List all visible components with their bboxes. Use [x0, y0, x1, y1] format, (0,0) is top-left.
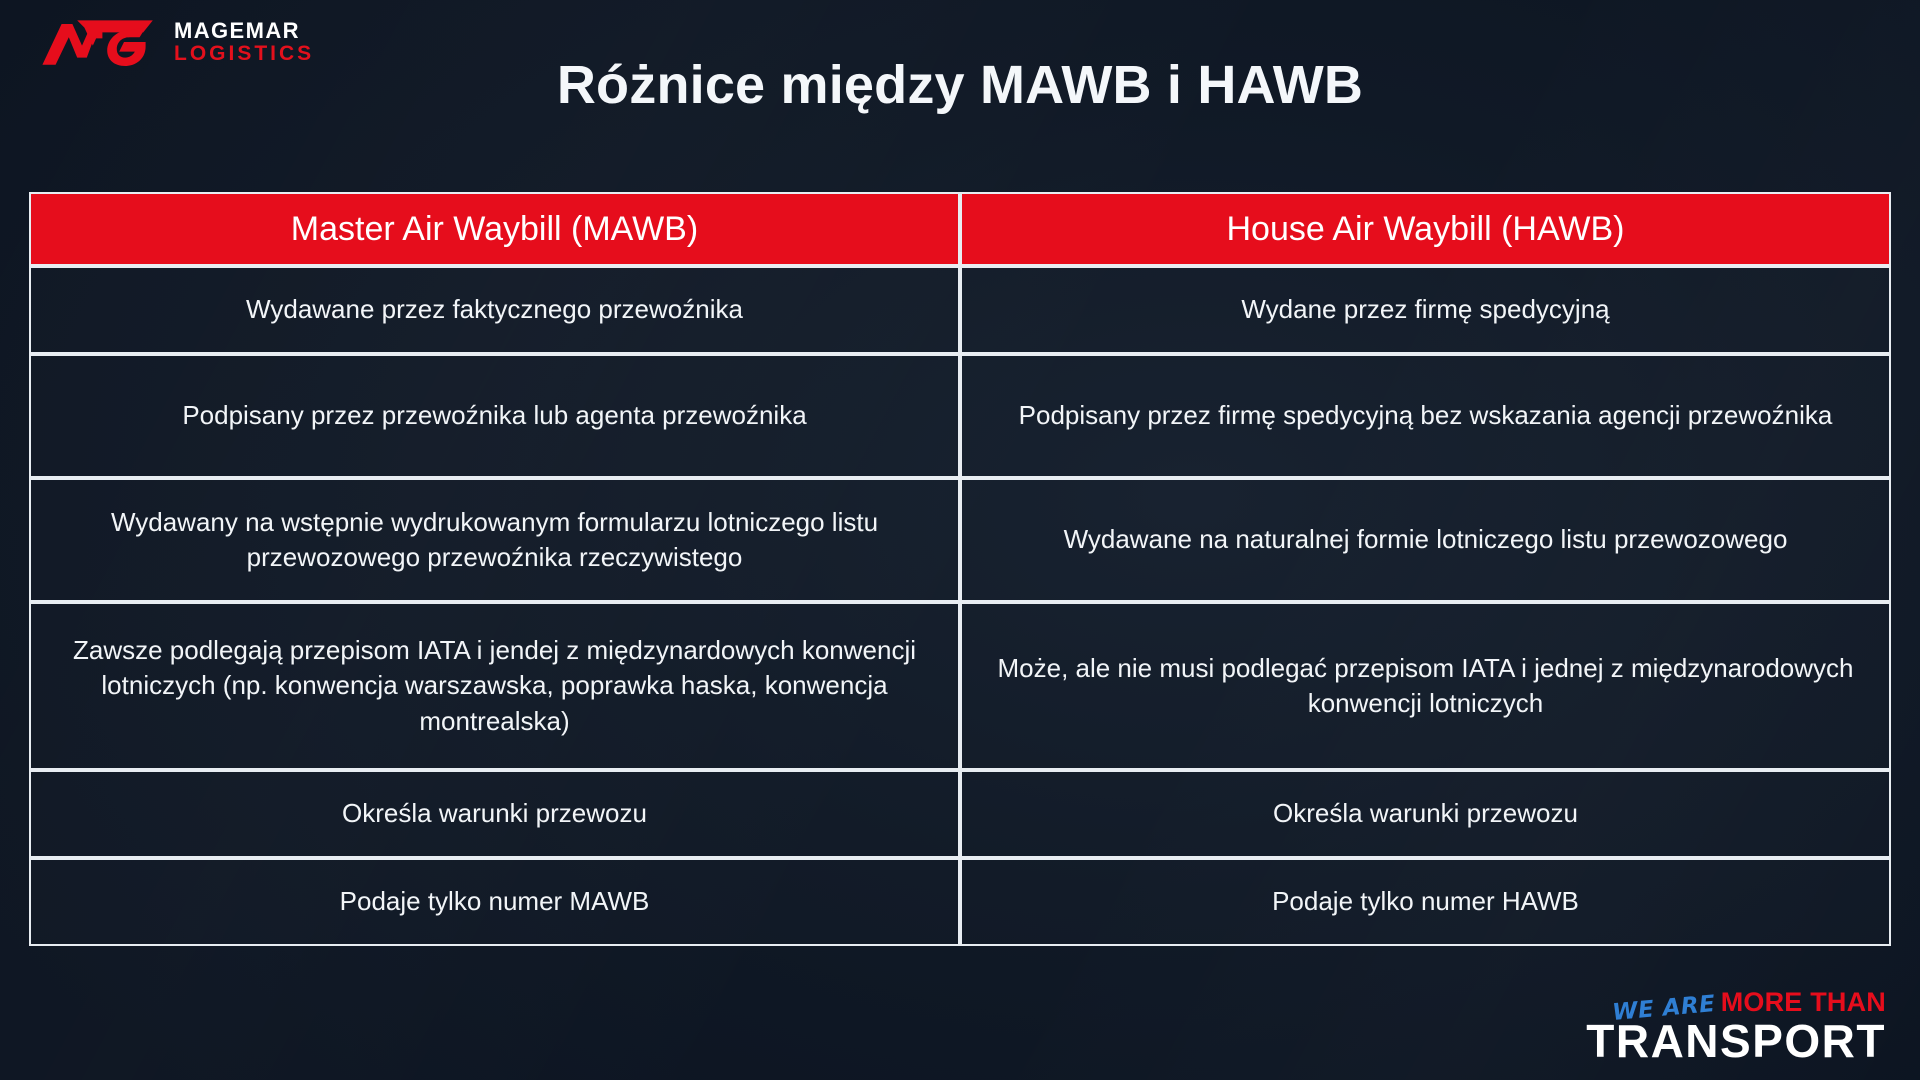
cell-hawb: Podaje tylko numer HAWB — [960, 858, 1891, 946]
cell-hawb: Wydane przez firmę spedycyjną — [960, 266, 1891, 354]
table-head: Master Air Waybill (MAWB) House Air Wayb… — [29, 192, 1891, 266]
cell-hawb: Może, ale nie musi podlegać przepisom IA… — [960, 602, 1891, 770]
cell-hawb: Podpisany przez firmę spedycyjną bez wsk… — [960, 354, 1891, 478]
tagline-top-line: WE ARE MORE THAN — [1586, 989, 1886, 1016]
cell-mawb: Wydawany na wstępnie wydrukowanym formul… — [29, 478, 960, 602]
cell-hawb: Wydawane na naturalnej formie lotniczego… — [960, 478, 1891, 602]
table-body: Wydawane przez faktycznego przewoźnika W… — [29, 266, 1891, 946]
table-row: Wydawane przez faktycznego przewoźnika W… — [29, 266, 1891, 354]
table-row: Wydawany na wstępnie wydrukowanym formul… — [29, 478, 1891, 602]
table-row: Podpisany przez przewoźnika lub agenta p… — [29, 354, 1891, 478]
table-header-row: Master Air Waybill (MAWB) House Air Wayb… — [29, 192, 1891, 266]
tagline-more-than: MORE THAN — [1721, 989, 1886, 1016]
cell-hawb: Określa warunki przewozu — [960, 770, 1891, 858]
table-row: Zawsze podlegają przepisom IATA i jendej… — [29, 602, 1891, 770]
table-row: Podaje tylko numer MAWB Podaje tylko num… — [29, 858, 1891, 946]
slide-canvas: MAGEMAR LOGISTICS Różnice między MAWB i … — [0, 0, 1920, 1080]
cell-mawb: Podaje tylko numer MAWB — [29, 858, 960, 946]
cell-mawb: Wydawane przez faktycznego przewoźnika — [29, 266, 960, 354]
cell-mawb: Zawsze podlegają przepisom IATA i jendej… — [29, 602, 960, 770]
column-header-mawb: Master Air Waybill (MAWB) — [29, 192, 960, 266]
cell-mawb: Określa warunki przewozu — [29, 770, 960, 858]
tagline-transport: TRANSPORT — [1586, 1018, 1886, 1064]
footer-tagline: WE ARE MORE THAN TRANSPORT — [1586, 989, 1886, 1064]
brand-name: MAGEMAR — [174, 19, 314, 42]
comparison-table: Master Air Waybill (MAWB) House Air Wayb… — [29, 192, 1891, 946]
table-row: Określa warunki przewozu Określa warunki… — [29, 770, 1891, 858]
page-title: Różnice między MAWB i HAWB — [0, 54, 1920, 116]
cell-mawb: Podpisany przez przewoźnika lub agenta p… — [29, 354, 960, 478]
column-header-hawb: House Air Waybill (HAWB) — [960, 192, 1891, 266]
